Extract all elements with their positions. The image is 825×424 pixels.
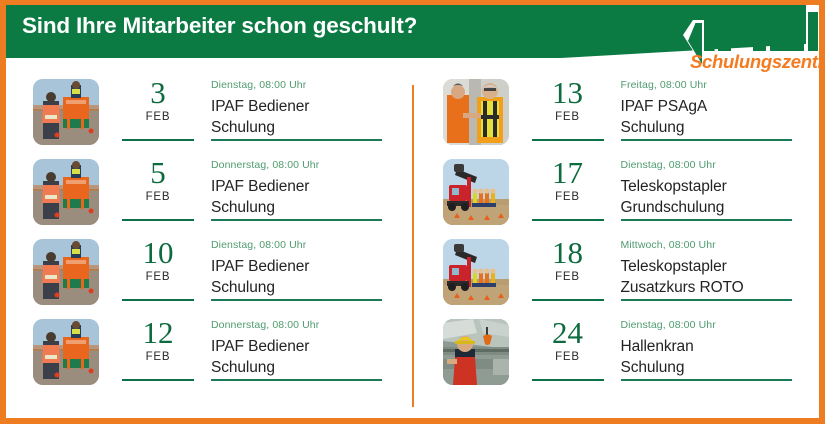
scissor-lift-thumbnail: [33, 239, 99, 305]
date-underline: [532, 379, 604, 381]
event-text: Dienstag, 08:00 Uhr IPAF Bediener Schulu…: [211, 239, 413, 298]
event-when: Donnerstag, 08:00 Uhr: [211, 159, 413, 171]
svg-text:Schulungszentrum: Schulungszentrum: [690, 51, 820, 72]
event-date: 10 FEB: [121, 237, 195, 283]
event-month: FEB: [531, 191, 605, 203]
event-date: 18 FEB: [531, 237, 605, 283]
event-title-line2: Schulung: [211, 117, 413, 138]
event-when: Mittwoch, 08:00 Uhr: [621, 239, 820, 251]
event-title-line1: IPAF Bediener: [211, 256, 413, 277]
events-columns: 3 FEB Dienstag, 08:00 Uhr IPAF Bediener …: [6, 58, 819, 418]
event-date: 13 FEB: [531, 77, 605, 123]
event-month: FEB: [531, 111, 605, 123]
event-title-line1: Hallenkran: [621, 336, 820, 357]
event-title-line2: Schulung: [211, 197, 413, 218]
left-column: 3 FEB Dienstag, 08:00 Uhr IPAF Bediener …: [6, 58, 413, 418]
event-title-line1: IPAF Bediener: [211, 176, 413, 197]
telehandler-thumbnail: [443, 159, 509, 225]
event-day: 12: [121, 317, 195, 349]
page-title: Sind Ihre Mitarbeiter schon geschult?: [22, 13, 417, 39]
list-item[interactable]: 12 FEB Donnerstag, 08:00 Uhr IPAF Bedien…: [6, 298, 413, 378]
list-item[interactable]: 17 FEB Dienstag, 08:00 Uhr Teleskopstapl…: [413, 138, 820, 218]
frame-border-bottom: [0, 418, 825, 424]
event-day: 24: [531, 317, 605, 349]
event-title-line2: Schulung: [621, 357, 820, 378]
event-when: Dienstag, 08:00 Uhr: [211, 239, 413, 251]
scissor-lift-thumbnail: [33, 159, 99, 225]
event-title-line2: Grundschulung: [621, 197, 820, 218]
event-month: FEB: [121, 351, 195, 363]
event-day: 3: [121, 77, 195, 109]
event-text: Mittwoch, 08:00 Uhr Teleskopstapler Zusa…: [621, 239, 820, 298]
event-day: 18: [531, 237, 605, 269]
telehandler-thumbnail: [443, 239, 509, 305]
event-month: FEB: [121, 271, 195, 283]
right-column: 13 FEB Freitag, 08:00 Uhr IPAF PSAgA Sch…: [413, 58, 820, 418]
list-item[interactable]: 10 FEB Dienstag, 08:00 Uhr IPAF Bediener…: [6, 218, 413, 298]
event-month: FEB: [531, 351, 605, 363]
event-text: Dienstag, 08:00 Uhr Hallenkran Schulung: [621, 319, 820, 378]
harness-fitting-thumbnail: [443, 79, 509, 145]
event-text: Donnerstag, 08:00 Uhr IPAF Bediener Schu…: [211, 319, 413, 378]
event-title-line1: Teleskopstapler: [621, 176, 820, 197]
event-day: 13: [531, 77, 605, 109]
event-underline: [621, 379, 792, 381]
scissor-lift-thumbnail: [33, 79, 99, 145]
event-title-line2: Zusatzkurs ROTO: [621, 277, 820, 298]
event-title-line1: Teleskopstapler: [621, 256, 820, 277]
event-text: Donnerstag, 08:00 Uhr IPAF Bediener Schu…: [211, 159, 413, 218]
overhead-crane-thumbnail: [443, 319, 509, 385]
event-text: Freitag, 08:00 Uhr IPAF PSAgA Schulung: [621, 79, 820, 138]
scissor-lift-thumbnail: [33, 319, 99, 385]
event-month: FEB: [121, 191, 195, 203]
event-text: Dienstag, 08:00 Uhr IPAF Bediener Schulu…: [211, 79, 413, 138]
event-month: FEB: [121, 111, 195, 123]
event-when: Donnerstag, 08:00 Uhr: [211, 319, 413, 331]
event-underline: [211, 379, 382, 381]
event-when: Dienstag, 08:00 Uhr: [211, 79, 413, 91]
event-month: FEB: [531, 271, 605, 283]
event-date: 12 FEB: [121, 317, 195, 363]
list-item[interactable]: 5 FEB Donnerstag, 08:00 Uhr IPAF Bediene…: [6, 138, 413, 218]
event-text: Dienstag, 08:00 Uhr Teleskopstapler Grun…: [621, 159, 820, 218]
event-title-line2: Schulung: [211, 357, 413, 378]
event-day: 17: [531, 157, 605, 189]
event-when: Dienstag, 08:00 Uhr: [621, 319, 820, 331]
event-when: Dienstag, 08:00 Uhr: [621, 159, 820, 171]
date-underline: [122, 379, 194, 381]
list-item[interactable]: 24 FEB Dienstag, 08:00 Uhr Hallenkran Sc…: [413, 298, 820, 378]
event-title-line1: IPAF Bediener: [211, 96, 413, 117]
event-title-line2: Schulung: [621, 117, 820, 138]
event-day: 5: [121, 157, 195, 189]
event-title-line1: IPAF Bediener: [211, 336, 413, 357]
event-date: 17 FEB: [531, 157, 605, 203]
event-when: Freitag, 08:00 Uhr: [621, 79, 820, 91]
cramer-logo: Schulungszentrum: [552, 6, 820, 72]
list-item[interactable]: 3 FEB Dienstag, 08:00 Uhr IPAF Bediener …: [6, 58, 413, 138]
list-item[interactable]: 18 FEB Mittwoch, 08:00 Uhr Teleskopstapl…: [413, 218, 820, 298]
event-date: 5 FEB: [121, 157, 195, 203]
event-title-line1: IPAF PSAgA: [621, 96, 820, 117]
training-schedule-poster: Sind Ihre Mitarbeiter schon geschult?: [0, 0, 825, 424]
event-day: 10: [121, 237, 195, 269]
event-title-line2: Schulung: [211, 277, 413, 298]
event-date: 24 FEB: [531, 317, 605, 363]
event-date: 3 FEB: [121, 77, 195, 123]
